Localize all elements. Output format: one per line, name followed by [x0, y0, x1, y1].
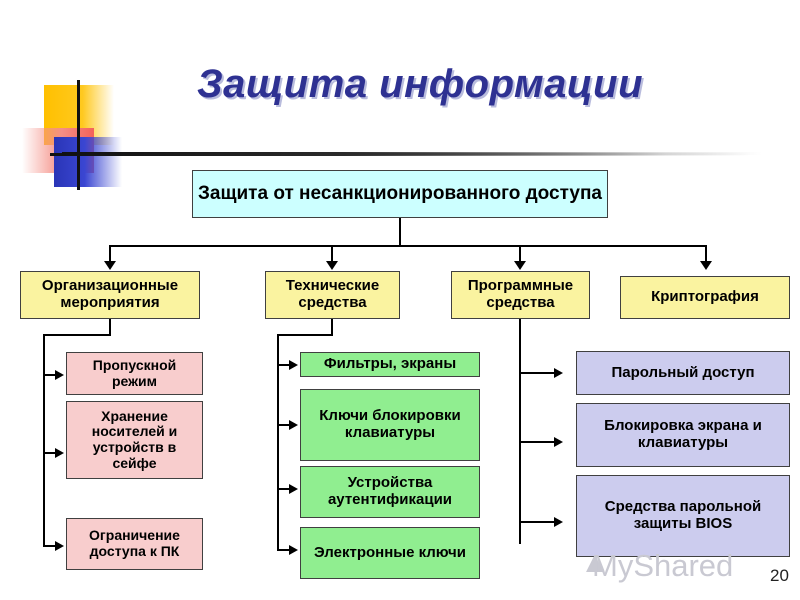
- root-box[interactable]: Защита от несанкционированного доступа: [192, 170, 608, 218]
- col1-item-label-1: Пропускной режим: [70, 358, 199, 389]
- logo-vertical-line: [77, 80, 80, 190]
- arrow-down-2: [326, 261, 338, 270]
- col1-item-box-2[interactable]: Хранение носителей и устройств в сейфе: [66, 401, 203, 479]
- col2-item-box-3[interactable]: Устройства аутентификации: [300, 466, 480, 518]
- level2-label-2: Технические средства: [269, 278, 396, 312]
- col2-item-label-1: Фильтры, экраны: [304, 356, 476, 373]
- connector-col2-stem: [331, 319, 333, 335]
- col1-item-box-3[interactable]: Ограничение доступа к ПК: [66, 518, 203, 570]
- logo-blue-rect: [54, 137, 122, 187]
- col2-item-label-3: Устройства аутентификации: [304, 475, 476, 509]
- connector-col2-trunk: [277, 334, 279, 551]
- arrow-down-4: [700, 261, 712, 270]
- col2-item-box-4[interactable]: Электронные ключи: [300, 527, 480, 579]
- connector-level2-bus: [109, 245, 705, 247]
- arrow-down-1: [104, 261, 116, 270]
- arrow-right-col1-3: [55, 541, 64, 551]
- col1-item-box-1[interactable]: Пропускной режим: [66, 352, 203, 395]
- arrow-right-col1-2: [55, 448, 64, 458]
- page-title: Защита информации: [140, 62, 700, 107]
- col2-item-box-1[interactable]: Фильтры, экраны: [300, 352, 480, 377]
- arrow-right-col2-1: [289, 360, 298, 370]
- level2-box-technical[interactable]: Технические средства: [265, 271, 400, 319]
- level2-box-software[interactable]: Программные средства: [451, 271, 590, 319]
- col3-item-label-3: Средства парольной защиты BIOS: [580, 499, 786, 533]
- connector-col3-branch-2: [519, 441, 556, 443]
- connector-col3-trunk: [519, 319, 521, 544]
- arrow-right-col3-2: [554, 437, 563, 447]
- connector-col1-stem: [109, 319, 111, 335]
- slide: Защита информации Защита от несанкционир…: [0, 0, 800, 600]
- level2-box-cryptography[interactable]: Криптография: [620, 276, 790, 319]
- col3-item-box-2[interactable]: Блокировка экрана и клавиатуры: [576, 403, 790, 467]
- arrow-right-col2-2: [289, 420, 298, 430]
- connector-col2-jog: [277, 334, 333, 336]
- arrow-right-col2-4: [289, 545, 298, 555]
- watermark-text: MyShared: [592, 548, 733, 584]
- col1-item-label-3: Ограничение доступа к ПК: [70, 528, 199, 559]
- arrow-down-3: [514, 261, 526, 270]
- col2-item-box-2[interactable]: Ключи блокировки клавиатуры: [300, 389, 480, 461]
- col3-item-box-3[interactable]: Средства парольной защиты BIOS: [576, 475, 790, 557]
- connector-col3-branch-1: [519, 372, 556, 374]
- level2-label-4: Криптография: [624, 289, 786, 306]
- arrow-right-col3-3: [554, 517, 563, 527]
- arrow-right-col3-1: [554, 368, 563, 378]
- root-box-label: Защита от несанкционированного доступа: [196, 183, 604, 204]
- level2-label-3: Программные средства: [455, 278, 586, 312]
- col3-item-box-1[interactable]: Парольный доступ: [576, 351, 790, 395]
- connector-col3-branch-3: [519, 521, 556, 523]
- col2-item-label-2: Ключи блокировки клавиатуры: [304, 408, 476, 442]
- connector-col1-trunk: [43, 334, 45, 547]
- col1-item-label-2: Хранение носителей и устройств в сейфе: [70, 409, 199, 472]
- page-number: 20: [770, 566, 789, 586]
- design-logo: [22, 80, 142, 190]
- connector-root-stem: [399, 218, 401, 246]
- level2-label-1: Организационные мероприятия: [24, 278, 196, 312]
- col3-item-label-2: Блокировка экрана и клавиатуры: [580, 418, 786, 452]
- col2-item-label-4: Электронные ключи: [304, 545, 476, 562]
- col3-item-label-1: Парольный доступ: [580, 365, 786, 382]
- connector-col1-jog: [43, 334, 111, 336]
- arrow-right-col1-1: [55, 370, 64, 380]
- title-divider: [62, 152, 762, 155]
- arrow-right-col2-3: [289, 484, 298, 494]
- level2-box-organizational[interactable]: Организационные мероприятия: [20, 271, 200, 319]
